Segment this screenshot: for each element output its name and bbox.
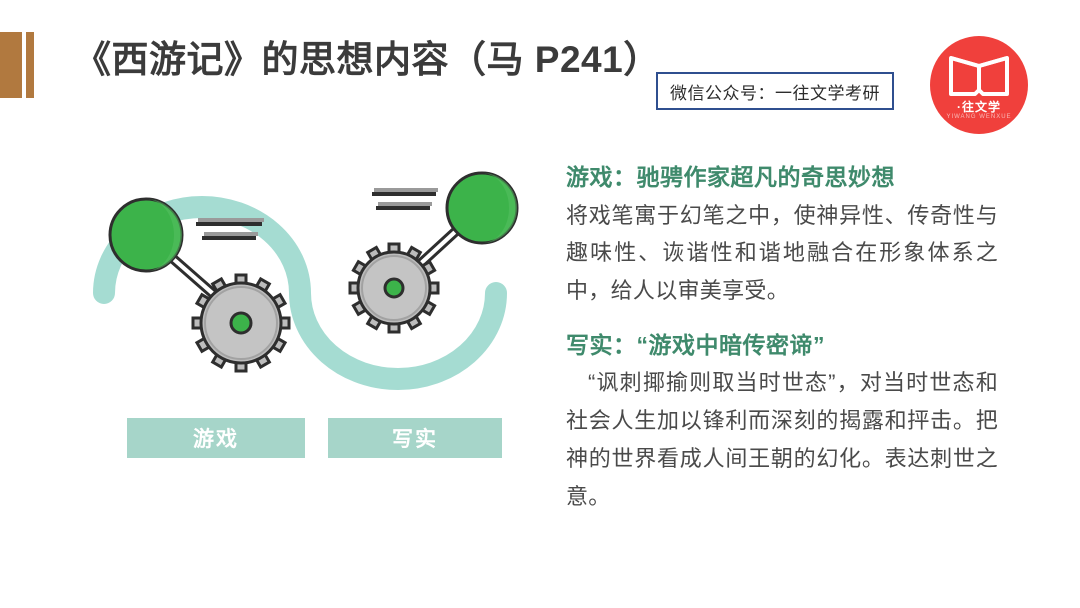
open-book-icon [949, 54, 1009, 98]
content-column: 游戏：驰骋作家超凡的奇思妙想 将戏笔寓于幻笔之中，使神异性、传奇性与趣味性、诙谐… [566, 160, 998, 516]
section-youxi-heading: 游戏：驰骋作家超凡的奇思妙想 [566, 160, 998, 195]
brand-logo-subtitle: YIWANG WENXUE [930, 114, 1028, 120]
motion-lines-right [372, 190, 438, 208]
section-xieshi-heading: 写实：“游戏中暗传密谛” [566, 328, 998, 363]
gear-left [193, 275, 289, 371]
brand-logo: ·往文学 YIWANG WENXUE [930, 36, 1028, 134]
page-title: 《西游记》的思想内容（马 P241） [74, 38, 661, 82]
accent-bar-2 [26, 32, 35, 98]
brand-logo-name: ·往文学 [930, 98, 1028, 115]
gear-right [350, 244, 438, 332]
section-xieshi-body: “讽刺揶揄则取当时世态”，对当时世态和社会人生加以锋利而深刻的揭露和抨击。把神的… [566, 364, 998, 515]
chip-youxi: 游戏 [127, 418, 305, 458]
chip-xieshi-label: 写实 [392, 423, 438, 453]
green-ball-left [110, 199, 182, 271]
title-accent-bars [0, 32, 34, 98]
wechat-account-label: 微信公众号：一往文学考研 [670, 79, 880, 104]
section-xieshi: 写实：“游戏中暗传密谛” “讽刺揶揄则取当时世态”，对当时世态和社会人生加以锋利… [566, 328, 998, 516]
slide-canvas: 《西游记》的思想内容（马 P241） 微信公众号：一往文学考研 ·往文学 YIW… [0, 0, 1080, 608]
chip-xieshi: 写实 [328, 418, 502, 458]
section-youxi: 游戏：驰骋作家超凡的奇思妙想 将戏笔寓于幻笔之中，使神异性、传奇性与趣味性、诙谐… [566, 160, 998, 310]
green-ball-right [447, 173, 517, 243]
accent-bar-1 [0, 32, 22, 98]
section-youxi-body: 将戏笔寓于幻笔之中，使神异性、传奇性与趣味性、诙谐性和谐地融合在形象体系之中，给… [566, 197, 998, 310]
chip-youxi-label: 游戏 [193, 423, 239, 453]
wechat-account-badge: 微信公众号：一往文学考研 [656, 72, 894, 110]
